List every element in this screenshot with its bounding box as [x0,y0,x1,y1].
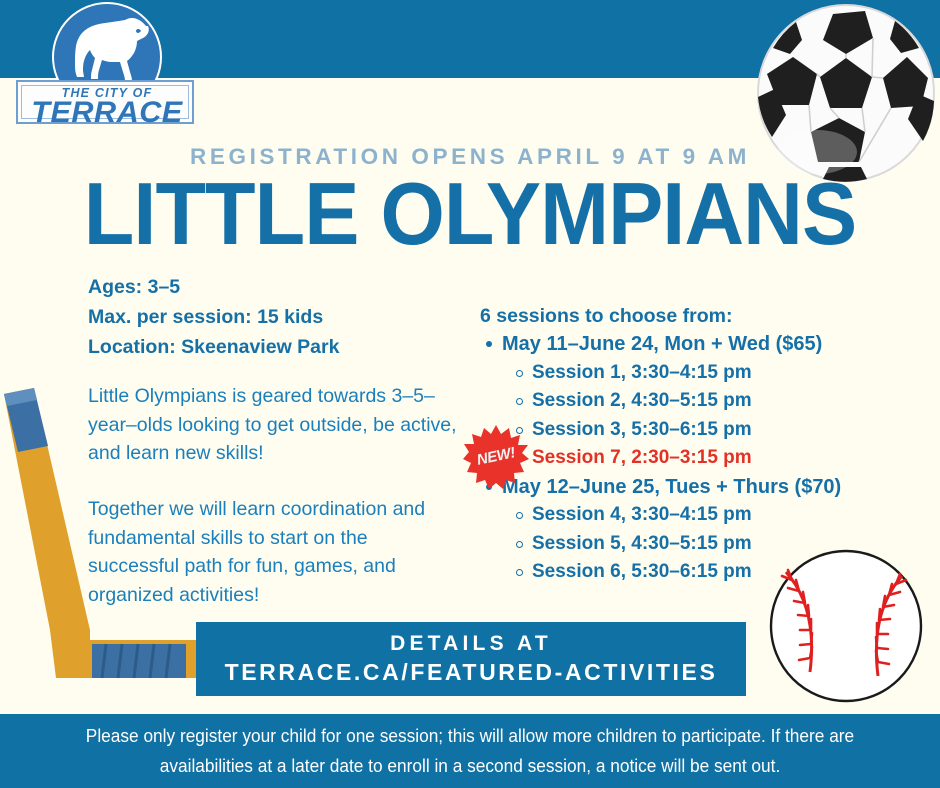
details-banner-line-1: DETAILS AT [390,631,552,657]
footer-note: Please only register your child for one … [48,721,893,781]
footer-band: Please only register your child for one … [0,714,940,788]
hollow-bullet-icon [516,512,523,519]
fact-max-per-session: Max. per session: 15 kids [88,302,478,332]
session-group-2: May 12–June 25, Tues + Thurs ($70) [480,473,910,502]
sessions-heading: 6 sessions to choose from: [480,302,910,330]
session-item-1-label: Session 1, 3:30–4:15 pm [532,362,752,383]
details-banner[interactable]: DETAILS AT TERRACE.CA/FEATURED-ACTIVITIE… [196,622,746,696]
city-of-terrace-logo: THE CITY OF TERRACE [16,2,196,124]
session-item-4: Session 4, 3:30–4:15 pm [480,501,910,530]
fact-ages: Ages: 3–5 [88,272,478,302]
program-facts: Ages: 3–5 Max. per session: 15 kids Loca… [88,272,478,362]
logo-nameplate: THE CITY OF TERRACE [16,80,194,124]
new-badge: NEW! [463,424,529,490]
session-group-2-label: May 12–June 25, Tues + Thurs ($70) [502,476,841,498]
hollow-bullet-icon [516,569,523,576]
session-item-4-label: Session 4, 3:30–4:15 pm [532,504,752,525]
session-item-7: Session 7, 2:30–3:15 pm [480,444,910,473]
bullet-icon [486,341,492,347]
session-item-3-label: Session 3, 5:30–6:15 pm [532,419,752,440]
baseball-icon [766,546,926,706]
hockey-stick-icon [0,378,224,698]
hollow-bullet-icon [516,398,523,405]
page-title: LITTLE OLYMPIANS [28,168,912,260]
sessions-list: 6 sessions to choose from: May 11–June 2… [480,302,910,587]
details-banner-line-2: TERRACE.CA/FEATURED-ACTIVITIES [225,657,718,687]
session-item-5-label: Session 5, 4:30–5:15 pm [532,533,752,554]
session-group-1: May 11–June 24, Mon + Wed ($65) [480,330,910,359]
session-item-7-label: Session 7, 2:30–3:15 pm [532,447,752,468]
session-item-6-label: Session 6, 5:30–6:15 pm [532,561,752,582]
session-group-1-label: May 11–June 24, Mon + Wed ($65) [502,333,822,355]
logo-line-2: TERRACE [16,96,198,130]
hollow-bullet-icon [516,370,523,377]
poster-root: THE CITY OF TERRACE REGISTRATION OPENS A… [0,0,940,788]
session-item-2-label: Session 2, 4:30–5:15 pm [532,390,752,411]
session-item-2: Session 2, 4:30–5:15 pm [480,387,910,416]
session-item-3: Session 3, 5:30–6:15 pm [480,416,910,445]
fact-location: Location: Skeenaview Park [88,332,478,362]
hollow-bullet-icon [516,541,523,548]
session-item-1: Session 1, 3:30–4:15 pm [480,359,910,388]
